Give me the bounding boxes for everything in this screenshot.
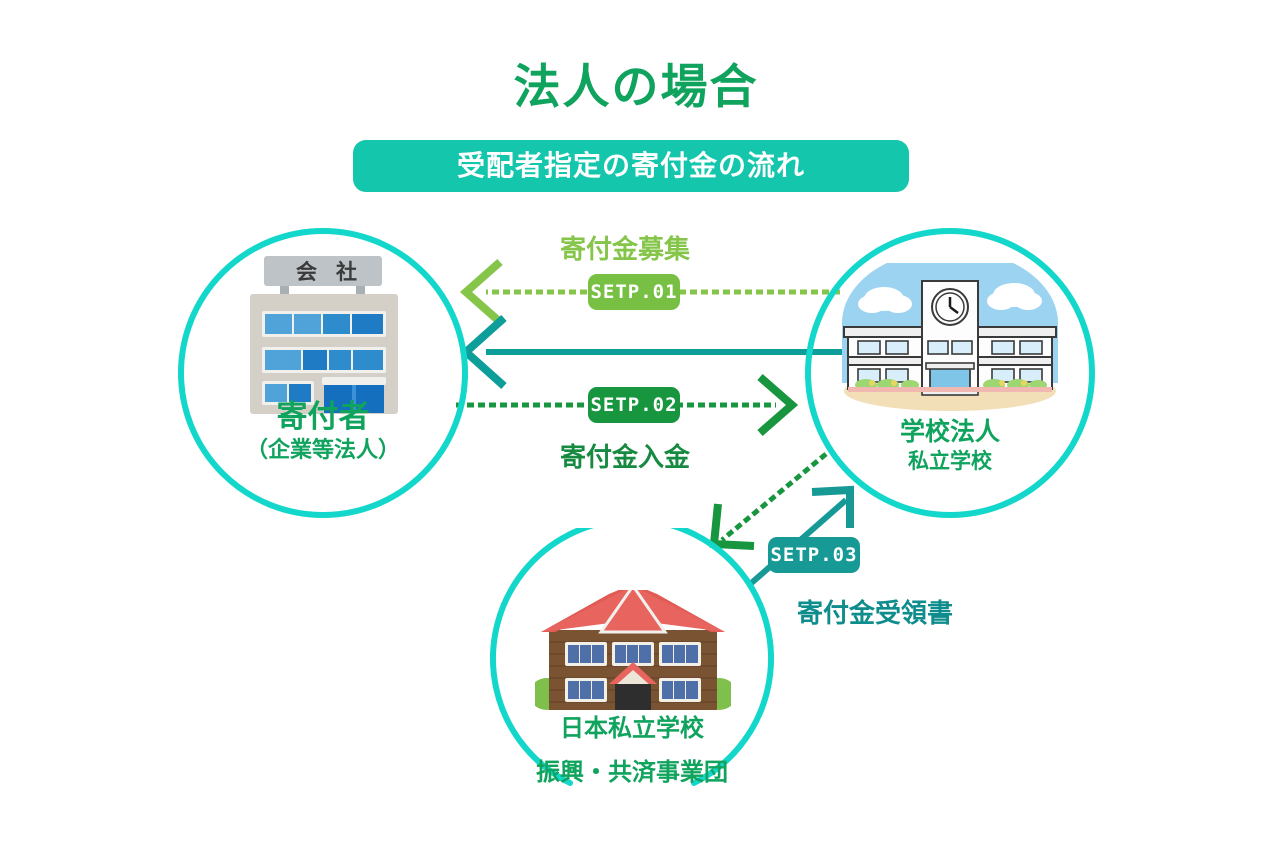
svg-text:会: 会 [296,260,317,284]
node-donor: 会 社 寄付者 （企業等法人） [178,228,468,518]
node-fund-label: 日本私立学校 [487,716,777,743]
step-badge-01: SETP.01 [588,274,680,310]
node-fund-sublabel: 振興・共済事業団 [487,760,777,787]
node-school-label: 学校法人 [805,418,1095,446]
flow-label-step2: 寄付金入金 [560,437,690,474]
school-building-icon [832,263,1068,415]
step-badge-03: SETP.03 [768,537,860,573]
fund-building-icon [535,590,731,718]
flow-label-step3: 寄付金受領書 [797,593,953,630]
svg-text:社: 社 [335,260,357,284]
node-fund: 日本私立学校 振興・共済事業団 [487,528,777,818]
step-badge-02: SETP.02 [588,387,680,423]
node-school: 学校法人 私立学校 [805,228,1095,518]
arrow-receipt-delivery [466,318,848,386]
node-school-sublabel: 私立学校 [805,450,1095,474]
company-building-icon: 会 社 [236,250,412,418]
diagram-canvas: 法人の場合 受配者指定の寄付金の流れ SETP.01 [0,0,1272,861]
flow-label-step1: 寄付金募集 [560,229,690,266]
node-donor-label: 寄付者 [178,400,468,435]
node-donor-sublabel: （企業等法人） [178,438,468,463]
